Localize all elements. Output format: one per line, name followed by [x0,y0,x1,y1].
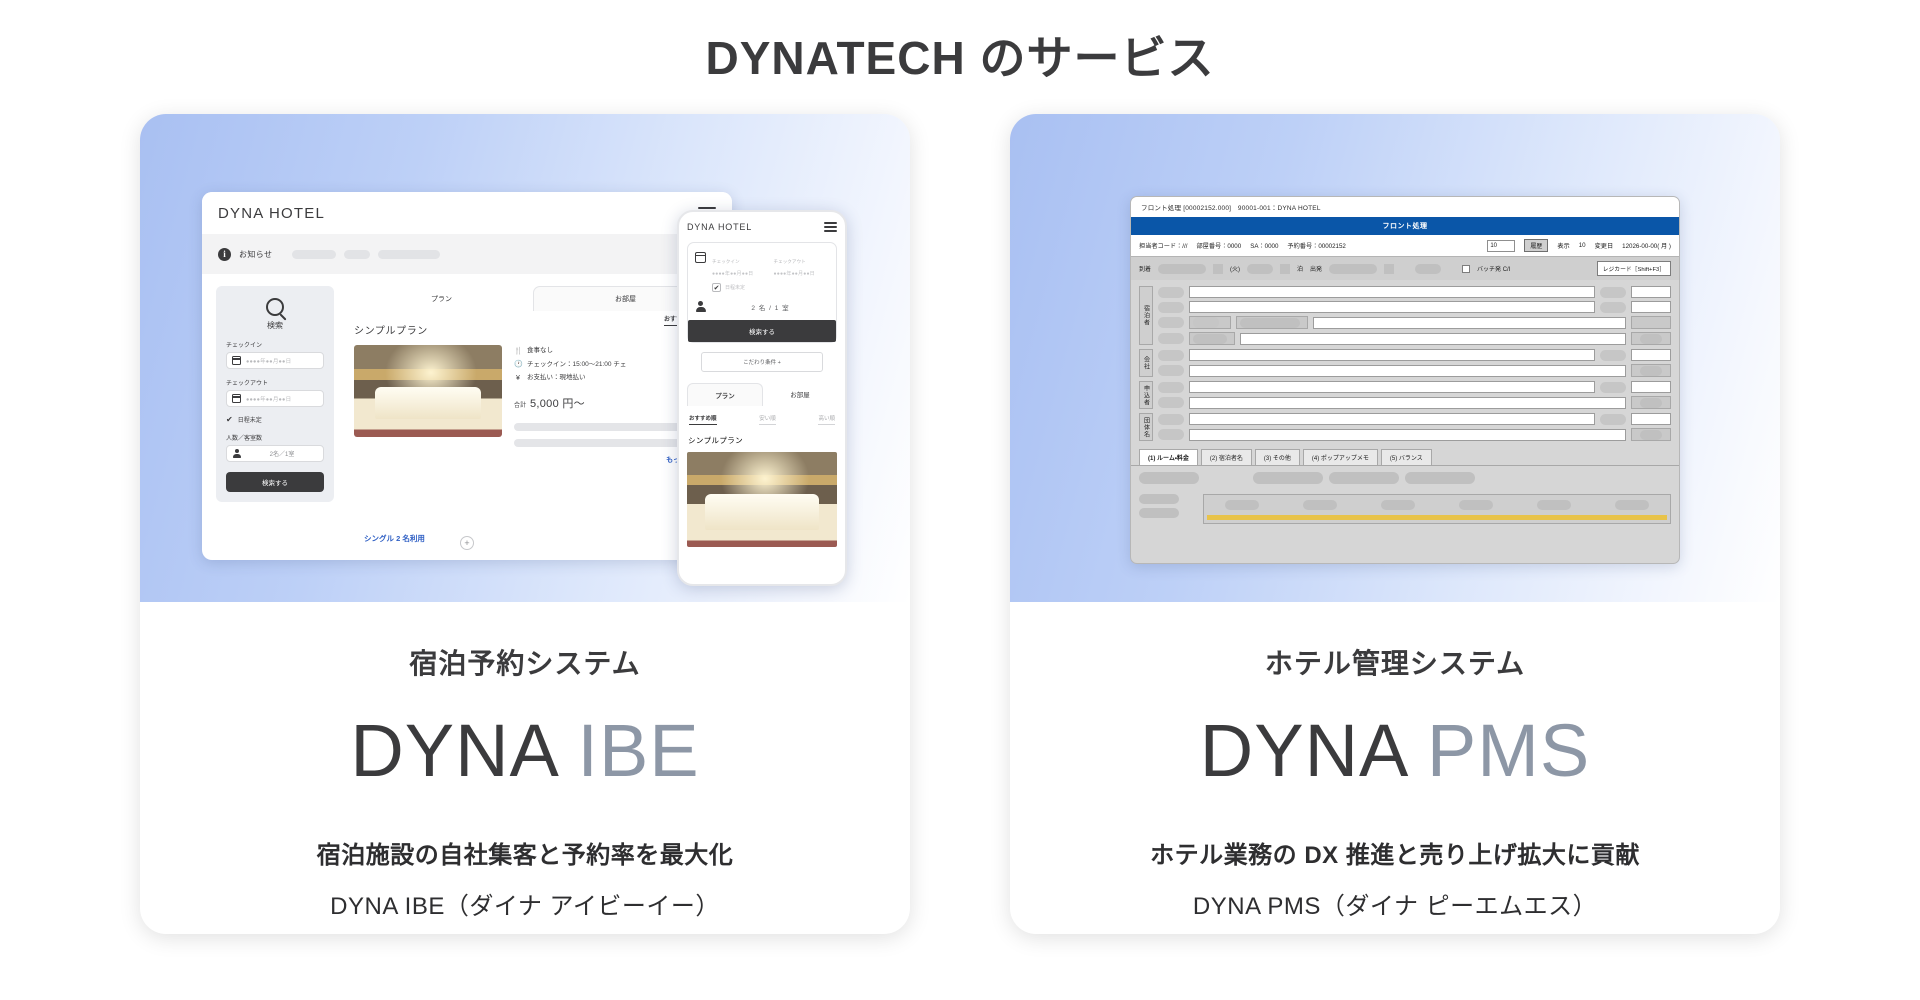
phone-condition-button[interactable]: こだわり条件 + [701,352,823,372]
pms-chip [1640,398,1662,408]
ibe-system-kind: 宿泊予約システム [140,642,910,682]
service-card-dyna-pms[interactable]: フロント処理 [00002152.000] 90001-001：DYNA HOT… [1010,114,1780,934]
info-icon: i [218,248,231,261]
phone-search-button[interactable]: 検索する [688,320,836,342]
sort-recommended[interactable]: おすすめ順 [689,414,717,425]
ibe-description: 宿泊施設の自社集客と予約率を最大化 [140,835,910,870]
pms-chip [1139,472,1199,484]
checkout-label: チェックアウト [226,378,324,387]
ibe-brand-bar: DYNA HOTEL [202,192,732,234]
pms-field-label [1158,317,1184,328]
guests-value: 2名／1室 [246,449,318,458]
pms-text-input[interactable] [1631,301,1671,313]
pms-chip [1537,500,1571,510]
pms-register-card-button[interactable]: レジカード［Shift+F3］ [1597,261,1671,276]
pms-form-row [1158,396,1671,409]
pms-reading: DYNA PMS（ダイナ ピーエムエス） [1010,886,1780,921]
pms-chip [1225,500,1259,510]
phone-brand-bar: DYNA HOTEL [687,212,837,242]
pms-group-label: 会社 [1139,349,1153,377]
plan-meal-label: 食事なし [527,345,553,357]
pms-chip [1640,334,1662,344]
pms-display-label: 表示 [1557,241,1569,250]
pms-window-title: フロント処理 [00002152.000] 90001-001：DYNA HOT… [1131,197,1679,217]
pms-nights-box[interactable] [1280,264,1290,274]
phone-date-undecided-checkbox[interactable]: ✔ 日程未定 [712,283,829,292]
pms-text-input[interactable] [1631,413,1671,425]
pms-departure-input[interactable] [1329,264,1377,274]
pms-chip [1381,500,1415,510]
service-cards: DYNA HOTEL i お知らせ 検索 [0,114,1920,934]
phone-room-photo [687,452,837,547]
search-panel-title: 検索 [226,320,324,331]
ibe-system-name: DYNA IBE [140,708,910,793]
price-value: 5,000 円〜 [530,398,585,410]
guests-input[interactable]: 2名／1室 [226,445,324,462]
phone-search-card: チェックイン ●●●●年●●月●●日 チェックアウト ●●●●年●●月●●日 ✔… [687,242,837,343]
pms-departure-label: 出発 [1310,264,1322,273]
plan-payment-label: お支払い：現地払い [527,372,586,384]
pms-group-label: 申込者 [1139,381,1153,409]
pms-tab-other[interactable]: (3) その他 [1255,449,1300,465]
ibe-phone-mockup: DYNA HOTEL チェックイン ●●●●年●●月●●日 チェックアウト [677,210,847,586]
pms-chip [1139,494,1179,504]
pms-chip [1253,472,1323,484]
pms-display-value: 10 [1579,242,1586,249]
pms-field-label [1158,333,1184,344]
checkin-value: ●●●●年●●月●●日 [246,357,291,365]
pms-bottom-left [1139,494,1197,518]
pms-chip [1139,508,1179,518]
phone-guests-row[interactable]: 2 名 / 1 室 [695,301,829,320]
notice-label: お知らせ [239,249,272,260]
pms-text-input[interactable] [1631,381,1671,393]
checkout-value: ●●●●年●●月●●日 [774,270,830,277]
cutlery-icon: 🍴 [514,345,522,358]
pms-readonly-cell [1189,316,1231,329]
pms-field-label [1158,302,1184,313]
ibe-search-panel: 検索 チェックイン ●●●●年●●月●●日 チェックアウト ●●●●年●●月●●… [216,286,334,502]
pms-chip [1240,318,1300,328]
phone-brand-name: DYNA HOTEL [687,222,752,232]
pms-text-input[interactable] [1189,397,1626,409]
pms-group-label: 団体名 [1139,413,1153,441]
pms-text-input[interactable] [1189,286,1595,298]
checkin-label: チェックイン [712,259,740,264]
sort-cheapest[interactable]: 安い順 [759,414,776,425]
pms-group-rows [1158,286,1671,345]
pms-field-label [1158,414,1184,425]
pms-arrival-input[interactable] [1158,264,1206,274]
calendar-icon [232,394,241,403]
services-page: DYNATECH のサービス DYNA HOTEL i お知らせ [0,0,1920,1000]
person-icon [695,301,706,312]
plan-checkin-label: チェックイン：15:00〜21:00 チェ [527,359,626,371]
pms-tab-guest-names[interactable]: (2) 宿泊者名 [1201,449,1252,465]
pms-staff-code: 担当者コード：/// [1139,241,1187,250]
pms-batch-checkbox[interactable] [1462,265,1470,273]
hamburger-menu-icon[interactable] [824,220,837,234]
pms-tab-popup-memo[interactable]: (4) ポップアップメモ [1303,449,1378,465]
ibe-desktop-mockup: DYNA HOTEL i お知らせ 検索 [202,192,732,560]
checkout-input[interactable]: ●●●●年●●月●●日 [226,390,324,407]
pms-group-rows [1158,413,1671,441]
pms-room-grid[interactable] [1203,494,1671,524]
pms-group-rows [1158,381,1671,409]
check-icon: ✔ [226,416,233,424]
pms-count-input[interactable]: 10 [1487,240,1515,252]
guests-label: 人数／客室数 [226,433,324,442]
more-link[interactable]: もっと見る▼ [350,455,708,465]
phone-checkout[interactable]: チェックアウト ●●●●年●●月●●日 [774,250,830,277]
pms-chip [1303,500,1337,510]
room-note: シングル 2 名利用 [364,533,425,544]
pms-text-input[interactable] [1631,349,1671,361]
ibe-main-area: 検索 チェックイン ●●●●年●●月●●日 チェックアウト ●●●●年●●月●●… [202,274,732,502]
pms-text-input[interactable] [1189,413,1595,425]
pms-bottom-area [1131,490,1679,530]
checkin-input[interactable]: ●●●●年●●月●●日 [226,352,324,369]
pms-text-input[interactable] [1240,333,1626,345]
ibe-hero-image: DYNA HOTEL i お知らせ 検索 [140,114,910,602]
pms-field-label [1158,382,1184,393]
pms-readonly-cell [1631,396,1671,409]
pms-field-label [1158,397,1184,408]
pms-field-label [1158,350,1184,361]
pms-room-no: 部屋番号：0000 [1196,241,1241,250]
phone-date-row: チェックイン ●●●●年●●月●●日 チェックアウト ●●●●年●●月●●日 [695,250,829,277]
pms-nights-input[interactable] [1247,264,1273,274]
pms-readonly-cell [1631,332,1671,345]
pms-group-groupname: 団体名 [1139,413,1671,441]
pms-extra-input[interactable] [1415,264,1441,274]
pms-sa: SA：0000 [1250,241,1278,250]
clock-icon: 🕐 [514,358,522,371]
pms-chip [1193,317,1219,328]
pms-group-applicant: 申込者 [1139,381,1671,409]
checkin-label: チェックイン [226,340,324,349]
pms-readonly-cell [1631,316,1671,329]
pms-field-label [1600,350,1626,361]
skeleton-bar [344,250,370,259]
price-prefix: 合計 [514,403,527,409]
tab-plan[interactable]: プラン [687,383,763,406]
phone-sort-row: おすすめ順 安い順 高い順 [687,414,837,425]
pms-chip [1329,472,1399,484]
pms-form-row [1158,381,1671,393]
pms-nights-label: 泊 [1297,264,1303,273]
guests-value: 2 名 / 1 室 [712,302,829,312]
date-undecided-label: 日程未定 [238,415,262,424]
pms-arrival-box[interactable] [1213,264,1223,274]
person-icon [232,449,241,458]
pms-grid-row [1207,498,1667,512]
pms-tab-bar: (1) ルーム・料金 (2) 宿泊者名 (3) その他 (4) ポップアップメモ… [1131,445,1679,465]
pms-text-input[interactable] [1631,286,1671,298]
pms-card-body: ホテル管理システム DYNA PMS ホテル業務の DX 推進と売り上げ拡大に貢… [1010,602,1780,934]
pms-departure-box[interactable] [1384,264,1394,274]
ibe-card-body: 宿泊予約システム DYNA IBE 宿泊施設の自社集客と予約率を最大化 DYNA… [140,602,910,934]
tab-room[interactable]: お部屋 [763,383,837,406]
pms-change-date-value: 12026-00-00( 月 ) [1622,241,1671,250]
ibe-notice-bar: i お知らせ [202,234,732,274]
check-icon: ✔ [712,283,721,292]
pms-tab-balance[interactable]: (5) バランス [1381,449,1432,465]
pms-change-date-label: 変更日 [1595,241,1614,250]
pms-field-label [1600,287,1626,298]
pms-form-area: 宿泊者 [1131,280,1679,441]
date-undecided-label: 日程未定 [725,284,745,291]
search-button[interactable]: 検索する [226,472,324,492]
room-photo [354,345,502,437]
pms-field-label [1600,302,1626,313]
pms-history-button[interactable]: 履歴 [1524,239,1548,252]
pms-highlight-bar [1207,515,1667,520]
pms-chip [1405,472,1475,484]
pms-text-input[interactable] [1189,349,1595,361]
ibe-name-primary: DYNA [350,709,556,792]
pms-readonly-cell [1631,428,1671,441]
pms-group-rows [1158,349,1671,377]
ibe-reading: DYNA IBE（ダイナ アイビーイー） [140,886,910,921]
pms-window-mockup: フロント処理 [00002152.000] 90001-001：DYNA HOT… [1130,196,1680,564]
ibe-name-accent: IBE [577,709,699,792]
phone-tabs: プラン お部屋 [687,383,837,406]
pms-readonly-cell [1631,364,1671,377]
pms-form-row [1158,332,1671,345]
pms-chip [1640,430,1662,440]
pms-info-row: 担当者コード：/// 部屋番号：0000 SA：0000 予約番号：000021… [1131,235,1679,256]
pms-group-label: 宿泊者 [1139,286,1153,345]
pms-arrival-label: 到着 [1139,264,1151,273]
pms-field-label [1158,287,1184,298]
pms-form-row [1158,286,1671,298]
pms-text-input[interactable] [1313,317,1626,329]
checkout-value: ●●●●年●●月●●日 [246,395,291,403]
pms-form-row [1158,349,1671,361]
wallet-icon: ¥ [514,372,522,385]
pms-form-row [1158,428,1671,441]
pms-readonly-cell [1236,316,1308,329]
pms-batch-label: バッチ発 C/I [1477,264,1510,273]
checkin-value: ●●●●年●●月●●日 [712,270,768,277]
pms-text-input[interactable] [1189,301,1595,313]
pms-weekday: (火) [1230,264,1240,273]
pms-banner: フロント処理 [1131,217,1679,235]
pms-system-kind: ホテル管理システム [1010,642,1780,682]
pms-system-name: DYNA PMS [1010,708,1780,793]
pms-group-guest: 宿泊者 [1139,286,1671,345]
pms-chip [1459,500,1493,510]
pms-form-row [1158,364,1671,377]
pms-chip [1193,334,1227,344]
sort-expensive[interactable]: 高い順 [818,414,835,425]
calendar-icon [232,356,241,365]
tab-plan[interactable]: プラン [350,287,533,311]
pms-form-row [1158,301,1671,313]
pms-form-row [1158,413,1671,425]
pms-filter-row: 到着 (火) 泊 出発 バッチ発 C/I レジカード［Shift+F3］ [1131,256,1679,280]
pms-field-label [1600,382,1626,393]
pms-tab-panel [1131,465,1679,490]
pms-chip [1640,366,1662,376]
date-undecided-checkbox[interactable]: ✔ 日程未定 [226,415,324,424]
pms-reservation-no: 予約番号：00002152 [1287,241,1345,250]
pms-text-input[interactable] [1189,429,1626,441]
pms-name-accent: PMS [1427,709,1590,792]
skeleton-bar [378,250,440,259]
service-card-dyna-ibe[interactable]: DYNA HOTEL i お知らせ 検索 [140,114,910,934]
pms-field-label [1158,429,1184,440]
checkout-label: チェックアウト [774,259,806,264]
pms-text-input[interactable] [1189,365,1626,377]
pms-hero-image: フロント処理 [00002152.000] 90001-001：DYNA HOT… [1010,114,1780,602]
calendar-icon [695,252,706,263]
pms-tab-room-rate[interactable]: (1) ルーム・料金 [1139,449,1198,465]
pms-group-company: 会社 [1139,349,1671,377]
plan-row: 🍴 食事なし 🕐 チェックイン：15:00〜21:00 チェ ¥ [350,345,718,447]
search-icon [266,298,284,316]
pms-form-row [1158,316,1671,329]
phone-checkin[interactable]: チェックイン ●●●●年●●月●●日 [712,250,768,277]
pms-field-label [1600,414,1626,425]
pms-field-label [1158,365,1184,376]
page-title: DYNATECH のサービス [0,0,1920,88]
pms-readonly-cell [1189,332,1235,345]
pms-text-input[interactable] [1189,381,1595,393]
pms-name-primary: DYNA [1200,709,1406,792]
ibe-brand-name: DYNA HOTEL [218,205,325,222]
phone-plan-title: シンプルプラン [688,435,837,446]
pms-description: ホテル業務の DX 推進と売り上げ拡大に貢献 [1010,835,1780,870]
pms-chip [1615,500,1649,510]
skeleton-bar [292,250,336,259]
expand-plus-icon[interactable]: + [460,536,474,550]
